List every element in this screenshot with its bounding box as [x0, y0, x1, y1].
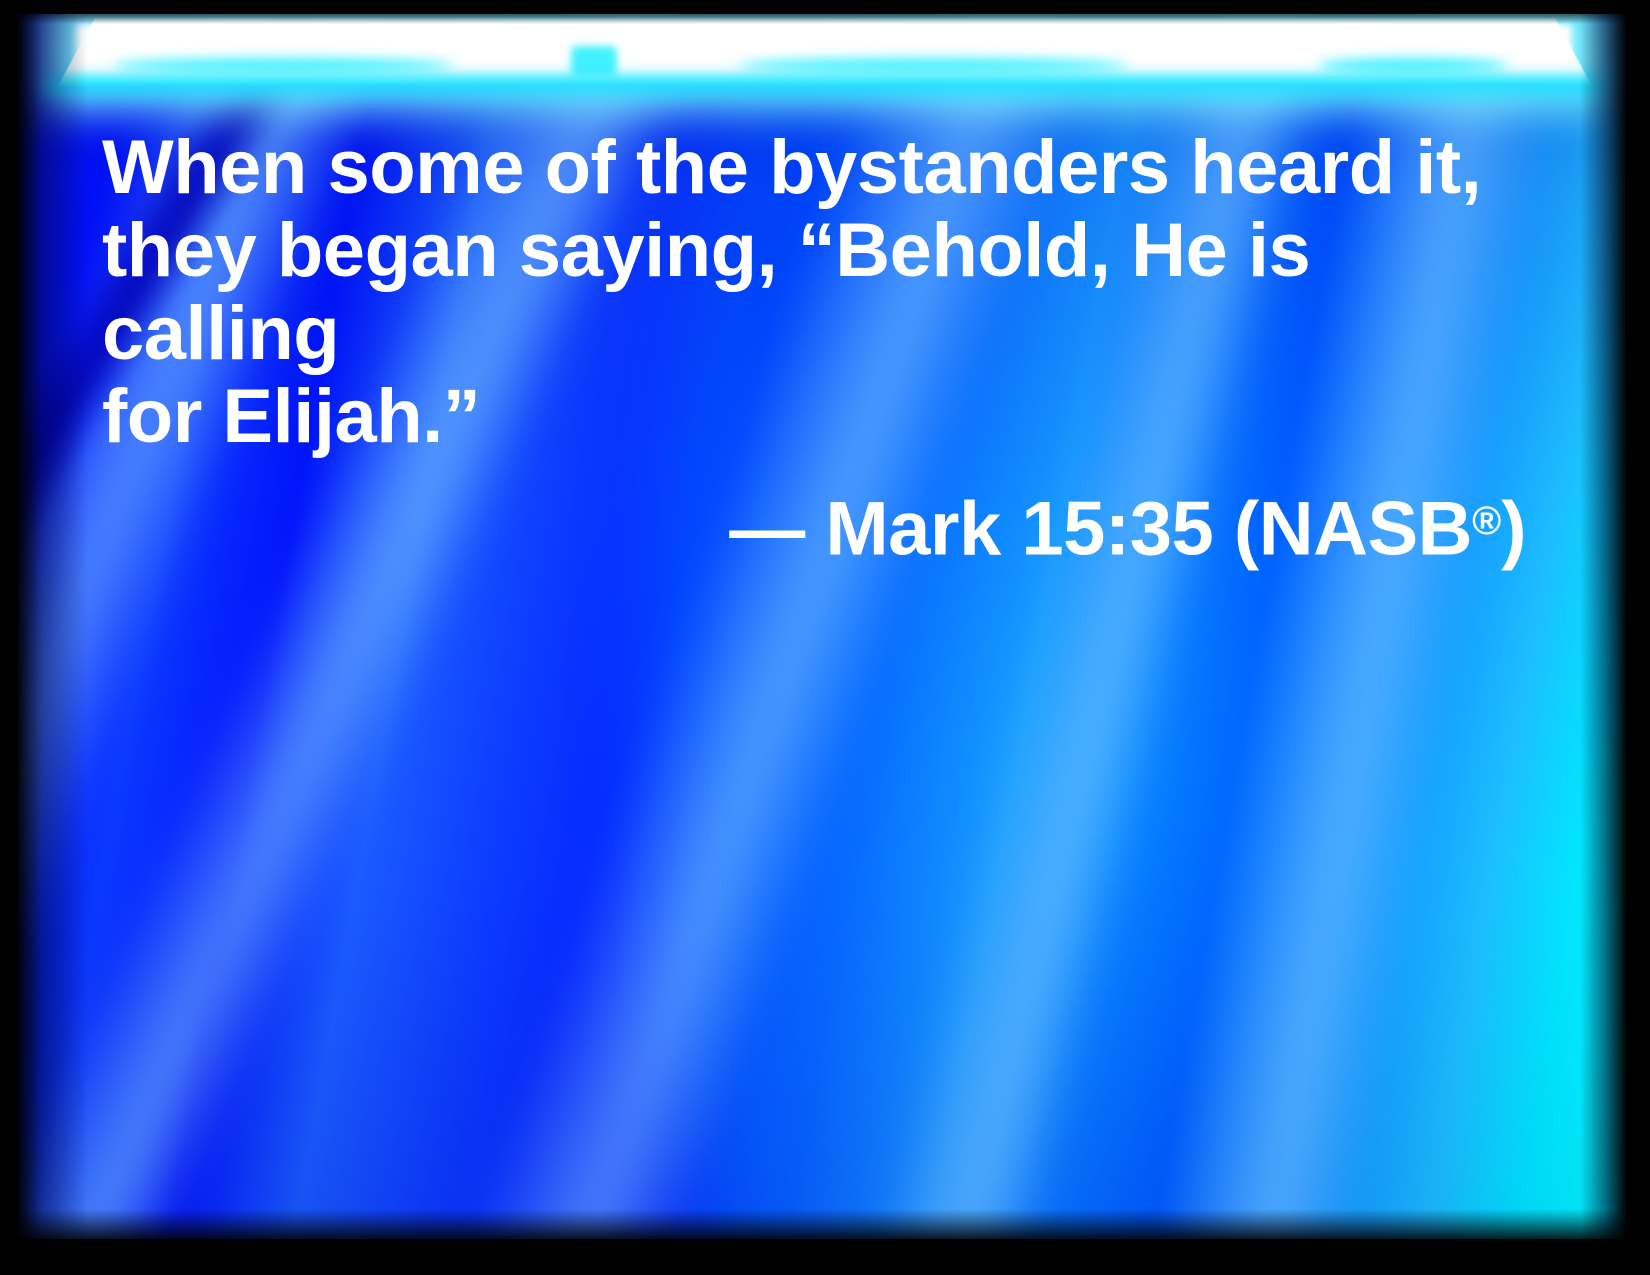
citation-book: Mark — [825, 487, 1000, 572]
verse-text-block: When some of the bystanders heard it, th… — [102, 126, 1546, 571]
lightbar-wisp-3 — [1318, 58, 1508, 73]
citation-close-paren: ) — [1501, 487, 1526, 572]
verse-citation: — Mark 15:35 (NASB®) — [102, 480, 1546, 571]
citation-open-paren: ( — [1234, 487, 1259, 572]
top-lightbar — [18, 14, 1626, 124]
citation-translation: NASB — [1259, 487, 1472, 572]
verse-body-text: When some of the bystanders heard it, th… — [102, 126, 1546, 458]
registered-trademark-icon: ® — [1472, 499, 1501, 543]
citation-dash: — — [729, 487, 805, 572]
lightbar-wisp-notch — [571, 46, 617, 76]
citation-reference: 15:35 — [1021, 487, 1213, 572]
slide-backdrop-panel: When some of the bystanders heard it, th… — [18, 14, 1626, 1239]
lightbar-underglow — [44, 78, 1606, 94]
lightbar-wisp-2 — [738, 58, 1128, 73]
verse-slide: When some of the bystanders heard it, th… — [0, 0, 1650, 1275]
lightbar-wisp-1 — [113, 58, 453, 73]
